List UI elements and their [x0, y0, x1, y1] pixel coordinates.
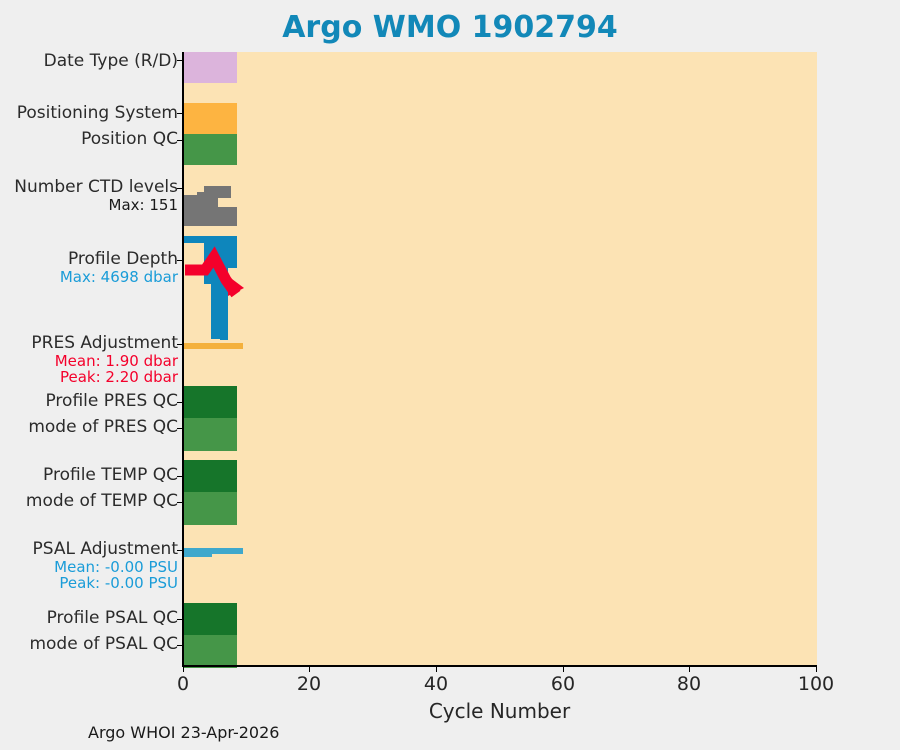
- row-label-mode-of-pres-qc-text: mode of PRES QC: [28, 418, 178, 437]
- row-label-profile-psal-qc: Profile PSAL QC: [47, 609, 178, 628]
- bar-mode-of-psal-qc: [184, 635, 237, 668]
- row-label-profile-depth-max: Max: 4698 dbar: [60, 269, 178, 286]
- row-label-profile-temp-qc-text: Profile TEMP QC: [43, 466, 178, 485]
- row-label-psal-adjustment: PSAL Adjustment Mean: -0.00 PSU Peak: -0…: [33, 540, 178, 592]
- bar-mode-of-temp-qc: [184, 492, 237, 525]
- xticklabel-0: 0: [177, 673, 189, 695]
- row-label-profile-pres-qc: Profile PRES QC: [45, 392, 178, 411]
- row-label-positioning-system-text: Positioning System: [17, 104, 178, 123]
- row-label-mode-of-psal-qc-text: mode of PSAL QC: [29, 635, 178, 654]
- ytick-psal-adjustment: [177, 550, 184, 551]
- bar-position-qc: [184, 134, 237, 165]
- bar-psal-adjustment-left: [184, 548, 212, 557]
- ytick-position-qc: [177, 140, 184, 141]
- x-axis-line: [182, 665, 817, 667]
- xticklabel-60: 60: [551, 673, 575, 695]
- bar-ctd-levels-step-1: [184, 207, 237, 226]
- bar-profile-psal-qc: [184, 603, 237, 635]
- ytick-profile-psal-qc: [177, 619, 184, 620]
- row-label-number-ctd-levels-text: Number CTD levels: [14, 178, 178, 197]
- bar-psal-adjustment-right: [212, 548, 243, 554]
- footer-credit: Argo WHOI 23-Apr-2026: [88, 723, 279, 742]
- row-label-mode-of-psal-qc: mode of PSAL QC: [29, 635, 178, 654]
- row-label-psal-adjustment-text: PSAL Adjustment: [33, 540, 178, 559]
- row-label-profile-depth-text: Profile Depth: [60, 250, 178, 269]
- xtick-40: [436, 665, 437, 672]
- row-label-profile-psal-qc-text: Profile PSAL QC: [47, 609, 178, 628]
- row-label-profile-pres-qc-text: Profile PRES QC: [45, 392, 178, 411]
- page-title: Argo WMO 1902794: [0, 10, 900, 45]
- row-label-psal-adjustment-peak: Peak: -0.00 PSU: [33, 575, 178, 592]
- bar-profile-temp-qc: [184, 460, 237, 492]
- ytick-mode-of-pres-qc: [177, 428, 184, 429]
- row-label-profile-depth: Profile Depth Max: 4698 dbar: [60, 250, 178, 285]
- bar-pres-adjustment: [184, 343, 243, 349]
- row-label-column: Date Type (R/D) Positioning System Posit…: [0, 52, 178, 665]
- ytick-profile-depth: [177, 260, 184, 261]
- row-label-date-type-text: Date Type (R/D): [44, 52, 178, 71]
- row-label-mode-of-temp-qc-text: mode of TEMP QC: [26, 492, 178, 511]
- ytick-pres-adjustment: [177, 344, 184, 345]
- xticklabel-40: 40: [424, 673, 448, 695]
- bar-mode-of-pres-qc: [184, 418, 237, 451]
- ytick-date-type: [177, 60, 184, 61]
- ytick-positioning-system: [177, 113, 184, 114]
- row-label-number-ctd-levels: Number CTD levels Max: 151: [14, 178, 178, 213]
- bar-profile-pres-qc: [184, 386, 237, 418]
- xtick-100: [816, 665, 817, 672]
- xtick-60: [563, 665, 564, 672]
- profile-depth-overlay-line: [184, 232, 254, 347]
- x-axis-label: Cycle Number: [182, 699, 817, 723]
- bar-positioning-system: [184, 103, 237, 134]
- row-label-pres-adjustment-peak: Peak: 2.20 dbar: [31, 369, 178, 386]
- bar-date-type: [184, 52, 237, 83]
- row-label-date-type: Date Type (R/D): [44, 52, 178, 71]
- xtick-80: [689, 665, 690, 672]
- row-label-number-ctd-levels-max: Max: 151: [14, 197, 178, 214]
- plot-area: [182, 52, 817, 665]
- row-label-mode-of-temp-qc: mode of TEMP QC: [26, 492, 178, 511]
- ytick-profile-pres-qc: [177, 402, 184, 403]
- row-label-position-qc: Position QC: [81, 130, 178, 149]
- row-label-mode-of-pres-qc: mode of PRES QC: [28, 418, 178, 437]
- bar-ctd-levels-step-4: [197, 192, 211, 204]
- ytick-mode-of-psal-qc: [177, 645, 184, 646]
- row-label-positioning-system: Positioning System: [17, 104, 178, 123]
- xtick-0: [183, 665, 184, 672]
- ytick-ctd-levels: [177, 188, 184, 189]
- xticklabel-100: 100: [798, 673, 834, 695]
- xticklabel-20: 20: [297, 673, 321, 695]
- row-label-pres-adjustment-text: PRES Adjustment: [31, 334, 178, 353]
- row-label-pres-adjustment-mean: Mean: 1.90 dbar: [31, 353, 178, 370]
- row-label-pres-adjustment: PRES Adjustment Mean: 1.90 dbar Peak: 2.…: [31, 334, 178, 386]
- xticklabel-80: 80: [677, 673, 701, 695]
- row-label-profile-temp-qc: Profile TEMP QC: [43, 466, 178, 485]
- ytick-mode-of-temp-qc: [177, 502, 184, 503]
- row-label-position-qc-text: Position QC: [81, 130, 178, 149]
- xtick-20: [309, 665, 310, 672]
- row-label-psal-adjustment-mean: Mean: -0.00 PSU: [33, 559, 178, 576]
- ytick-profile-temp-qc: [177, 476, 184, 477]
